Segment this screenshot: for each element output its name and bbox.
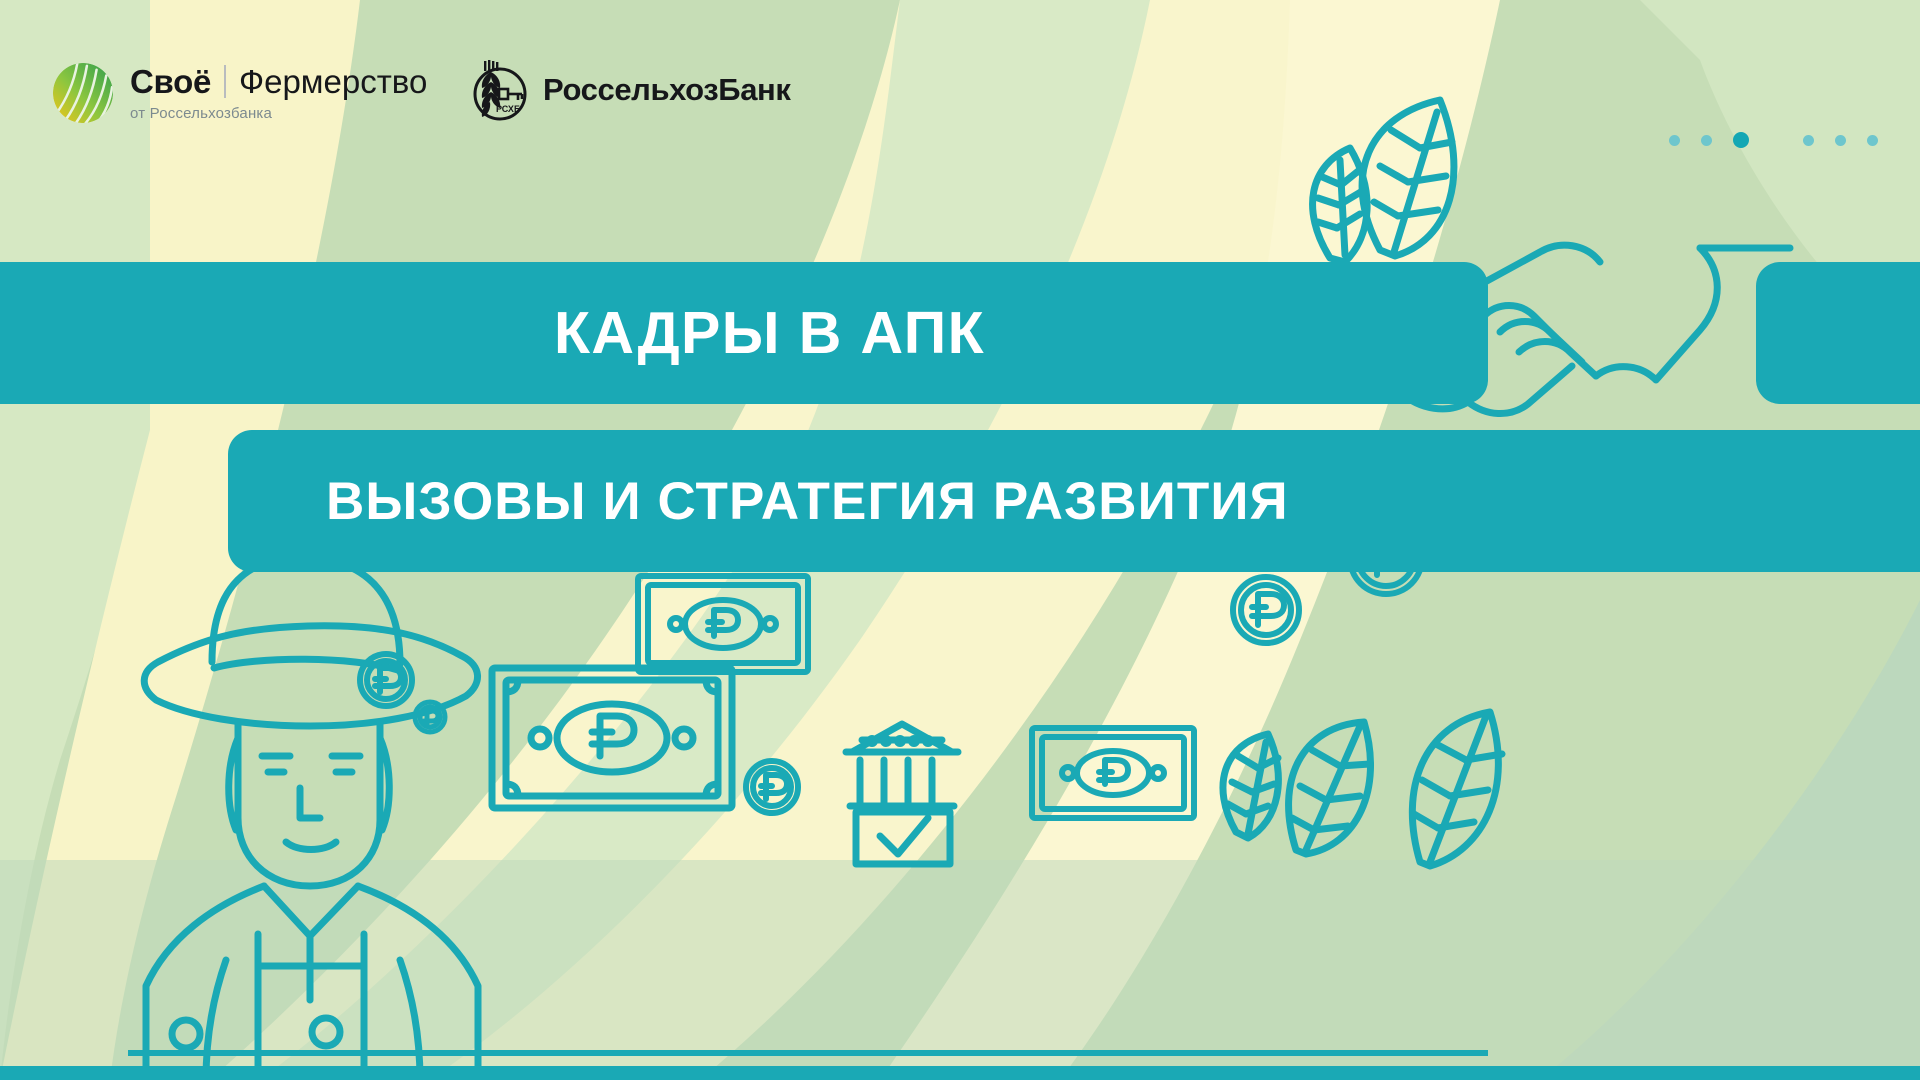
- pagination-dot-5[interactable]: [1835, 135, 1846, 146]
- brand-word-fermerstvo: Фермерство: [239, 65, 427, 98]
- title-banner: КАДРЫ В АПК: [0, 262, 1488, 404]
- brand-rosselkhozbank[interactable]: РСХБ РоссельхозБанк: [466, 58, 790, 122]
- slide-header: Своё Фермерство от Россельхозбанка: [0, 0, 1920, 170]
- subtitle-banner: ВЫЗОВЫ И СТРАТЕГИЯ РАЗВИТИЯ: [228, 430, 1920, 572]
- page-subtitle: ВЫЗОВЫ И СТРАТЕГИЯ РАЗВИТИЯ: [326, 471, 1289, 532]
- svg-text:РСХБ: РСХБ: [496, 104, 521, 114]
- pagination-dot-1[interactable]: [1669, 135, 1680, 146]
- page-title: КАДРЫ В АПК: [554, 299, 985, 367]
- brand-separator: [224, 65, 226, 98]
- title-banner-right-segment: [1756, 262, 1920, 404]
- pagination-dot-2[interactable]: [1701, 135, 1712, 146]
- brand-subtitle: от Россельхозбанка: [130, 105, 427, 122]
- brand-word-svoe: Своё: [130, 65, 211, 98]
- pagination-dots[interactable]: [1669, 132, 1878, 148]
- pagination-dot-6[interactable]: [1867, 135, 1878, 146]
- bottom-accent-bar: [0, 1066, 1920, 1080]
- brand-svoe-fermerstvo[interactable]: Своё Фермерство от Россельхозбанка: [52, 62, 427, 124]
- pagination-dot-3-active[interactable]: [1733, 132, 1749, 148]
- brand-rshb-name: РоссельхозБанк: [543, 72, 790, 108]
- ground-line: [128, 1050, 1488, 1056]
- slide-root: Своё Фермерство от Россельхозбанка: [0, 0, 1920, 1080]
- pagination-dot-4[interactable]: [1803, 135, 1814, 146]
- svoe-leaf-mark-icon: [52, 62, 114, 124]
- rshb-wheat-key-emblem-icon: РСХБ: [466, 58, 530, 122]
